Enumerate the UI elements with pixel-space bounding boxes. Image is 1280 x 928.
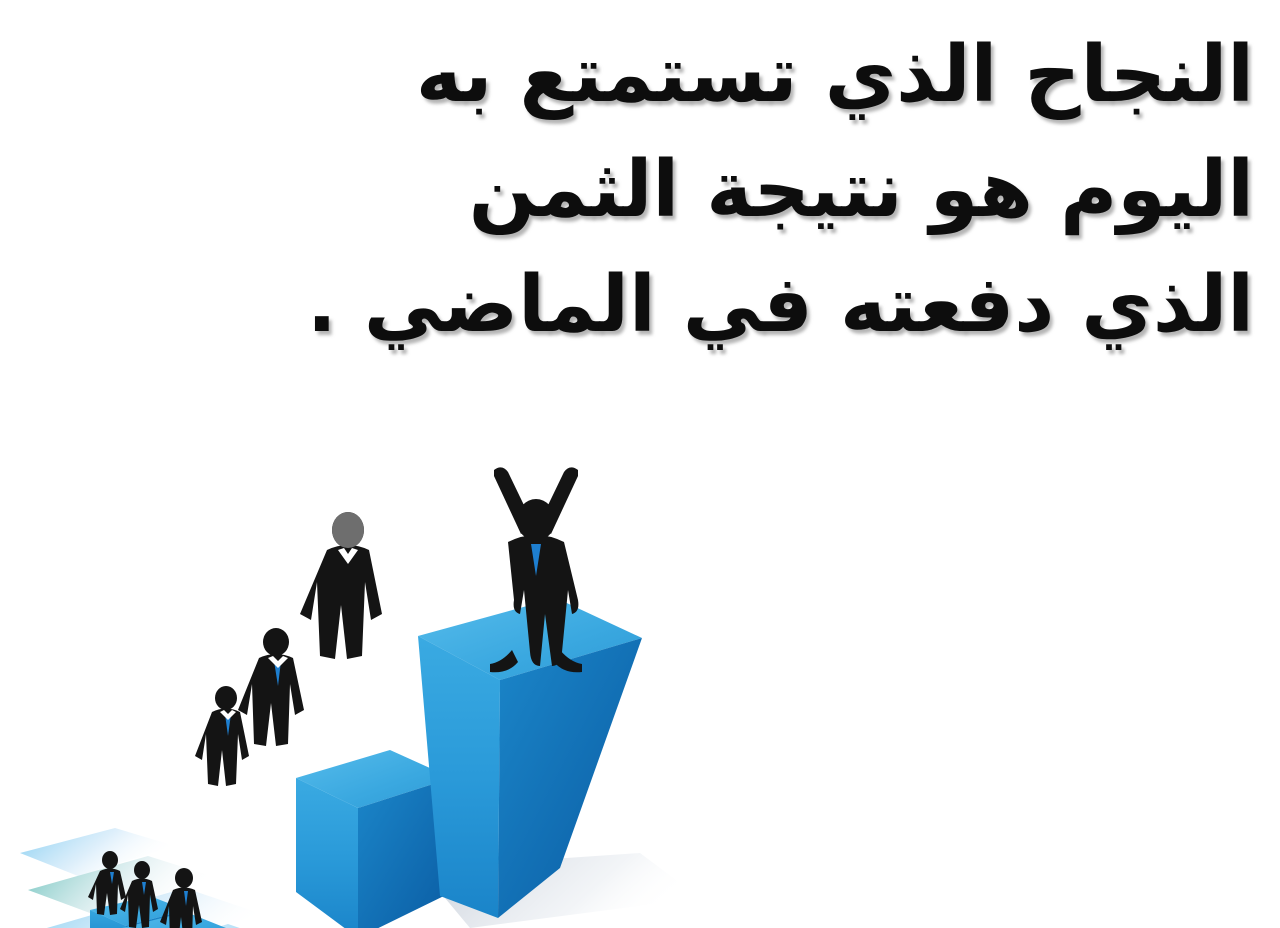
quote-line-1: النجاح الذي تستمتع به — [344, 18, 1254, 133]
bar-chart-illustration — [0, 398, 700, 928]
quote-text-block: النجاح الذي تستمتع به اليوم هو نتيجة الث… — [344, 18, 1254, 363]
quote-line-3: الذي دفعته في الماضي . — [344, 248, 1254, 363]
businessman-silhouette-4 — [195, 686, 249, 786]
quote-line-2: اليوم هو نتيجة الثمن — [344, 133, 1254, 248]
poster-canvas: النجاح الذي تستمتع به اليوم هو نتيجة الث… — [0, 0, 1280, 928]
bar-6 — [296, 750, 452, 928]
businessman-silhouette-6-grey-head — [300, 512, 382, 659]
businessman-silhouette-5 — [238, 628, 304, 746]
bar-chart-svg — [0, 398, 700, 928]
